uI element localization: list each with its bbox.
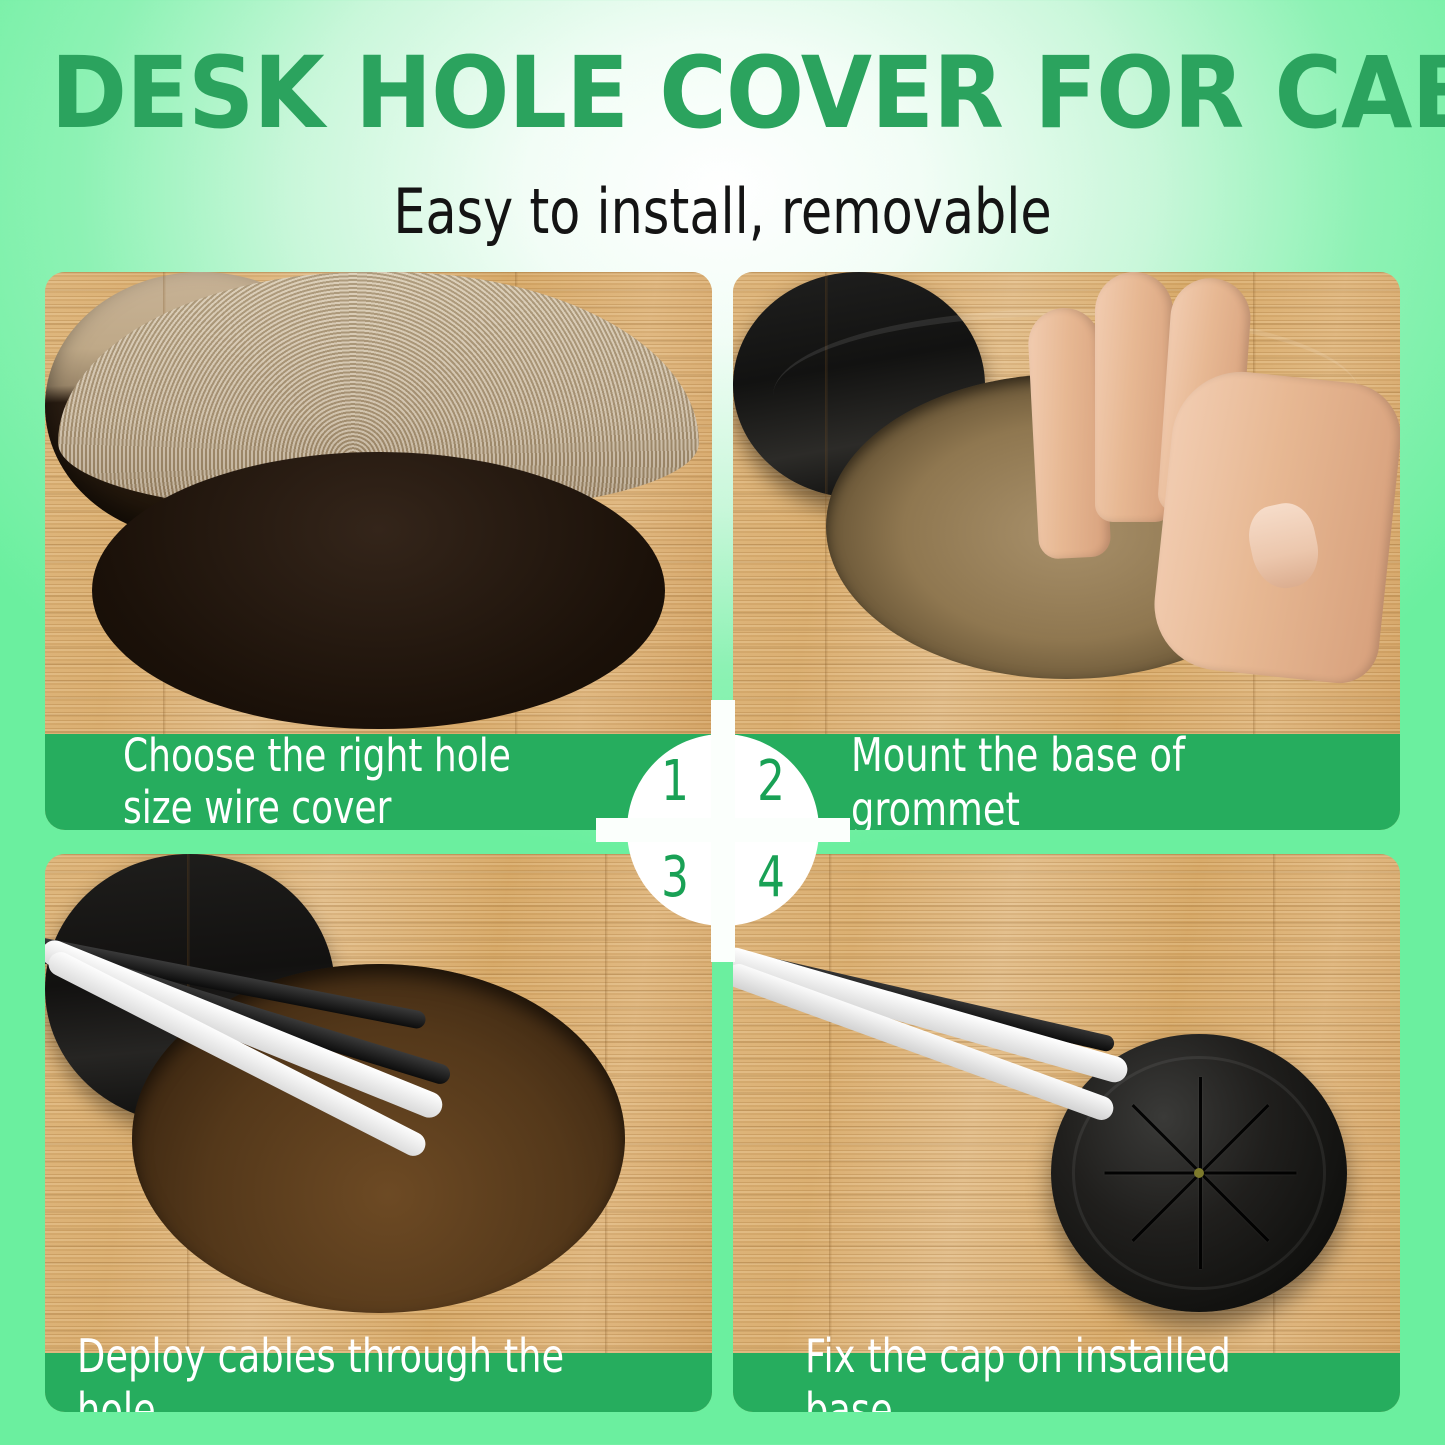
- white-cable-icon: [733, 945, 1130, 1086]
- step-badge-2: 2: [734, 734, 809, 830]
- step-1-caption: Choose the right hole size wire cover: [45, 734, 712, 830]
- step-3-caption: Deploy cables through the hole: [45, 1353, 712, 1412]
- step-panel-1: Choose the right hole size wire cover: [45, 272, 712, 830]
- page-title: DESK HOLE COVER FOR CABLES: [51, 42, 1395, 146]
- step-badge-4: 4: [734, 830, 809, 926]
- step-1-photo: [45, 272, 712, 734]
- step-4-photo: [733, 854, 1400, 1353]
- step-2-caption-text: Mount the base of grommet: [851, 728, 1290, 830]
- desk-hole-icon: [45, 272, 357, 540]
- page-subtitle: Easy to install, removable: [130, 176, 1315, 248]
- step-3-caption-text: Deploy cables through the hole: [77, 1329, 585, 1413]
- step-4-caption: Fix the cap on installed base: [733, 1353, 1400, 1412]
- step-2-photo: [733, 272, 1400, 734]
- step-panel-2: Mount the base of grommet: [733, 272, 1400, 830]
- grommet-base-ring-icon: [733, 272, 985, 498]
- step-badge-1: 1: [638, 734, 713, 830]
- step-panel-3: Deploy cables through the hole: [45, 854, 712, 1412]
- step-badge-3: 3: [638, 830, 713, 926]
- hub-divider-horizontal: [596, 818, 850, 842]
- step-3-photo: [45, 854, 712, 1353]
- step-1-caption-text: Choose the right hole size wire cover: [123, 730, 511, 830]
- step-2-caption: Mount the base of grommet: [733, 734, 1400, 830]
- step-4-caption-text: Fix the cap on installed base: [805, 1329, 1281, 1413]
- step-panel-4: Fix the cap on installed base: [733, 854, 1400, 1412]
